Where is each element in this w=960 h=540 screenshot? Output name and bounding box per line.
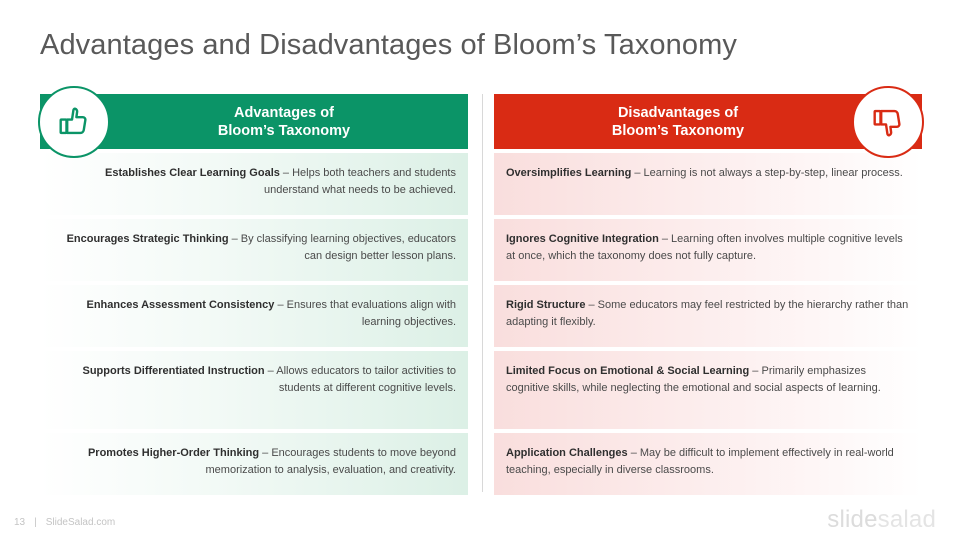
- item-term: Limited Focus on Emotional & Social Lear…: [506, 365, 749, 377]
- advantages-column: Advantages of Bloom’s Taxonomy Establish…: [40, 94, 468, 499]
- slidesalad-logo: slidesalad: [827, 506, 936, 534]
- disadvantages-list: Oversimplifies Learning – Learning is no…: [494, 153, 922, 495]
- item-description: – Ensures that evaluations align with le…: [274, 299, 456, 328]
- list-item: Rigid Structure – Some educators may fee…: [494, 285, 922, 347]
- item-term: Promotes Higher-Order Thinking: [88, 447, 259, 459]
- item-term: Supports Differentiated Instruction: [83, 365, 265, 377]
- item-description: – Helps both teachers and students under…: [264, 167, 456, 196]
- footer-separator: |: [34, 517, 37, 528]
- column-divider: [482, 94, 483, 492]
- list-item: Oversimplifies Learning – Learning is no…: [494, 153, 922, 215]
- list-item: Encourages Strategic Thinking – By class…: [40, 219, 468, 281]
- list-item: Limited Focus on Emotional & Social Lear…: [494, 351, 922, 429]
- item-term: Establishes Clear Learning Goals: [105, 167, 280, 179]
- disadvantages-header-bar: Disadvantages of Bloom’s Taxonomy: [494, 94, 922, 149]
- page-number: 13: [14, 517, 25, 528]
- item-description: – By classifying learning objectives, ed…: [229, 233, 456, 262]
- page-title: Advantages and Disadvantages of Bloom’s …: [40, 29, 737, 62]
- item-term: Enhances Assessment Consistency: [86, 299, 274, 311]
- list-item: Ignores Cognitive Integration – Learning…: [494, 219, 922, 281]
- item-term: Oversimplifies Learning: [506, 167, 631, 179]
- item-description: – Learning is not always a step-by-step,…: [631, 167, 902, 179]
- list-item: Promotes Higher-Order Thinking – Encoura…: [40, 433, 468, 495]
- item-term: Encourages Strategic Thinking: [67, 233, 229, 245]
- item-term: Ignores Cognitive Integration: [506, 233, 659, 245]
- item-term: Application Challenges: [506, 447, 628, 459]
- thumbs-up-icon: [38, 86, 110, 158]
- brand-part-1: slide: [827, 506, 877, 533]
- advantages-list: Establishes Clear Learning Goals – Helps…: [40, 153, 468, 495]
- thumbs-down-icon: [852, 86, 924, 158]
- disadvantages-column: Disadvantages of Bloom’s Taxonomy Oversi…: [494, 94, 922, 499]
- disadvantages-header-label: Disadvantages of Bloom’s Taxonomy: [612, 104, 744, 140]
- item-description: – Allows educators to tailor activities …: [265, 365, 456, 394]
- list-item: Establishes Clear Learning Goals – Helps…: [40, 153, 468, 215]
- brand-part-2: salad: [878, 506, 936, 533]
- item-term: Rigid Structure: [506, 299, 585, 311]
- list-item: Application Challenges – May be difficul…: [494, 433, 922, 495]
- footer-site-label: SlideSalad.com: [46, 517, 115, 528]
- footer-left: 13 | SlideSalad.com: [14, 517, 115, 528]
- advantages-header-bar: Advantages of Bloom’s Taxonomy: [40, 94, 468, 149]
- list-item: Enhances Assessment Consistency – Ensure…: [40, 285, 468, 347]
- advantages-header-label: Advantages of Bloom’s Taxonomy: [218, 104, 350, 140]
- list-item: Supports Differentiated Instruction – Al…: [40, 351, 468, 429]
